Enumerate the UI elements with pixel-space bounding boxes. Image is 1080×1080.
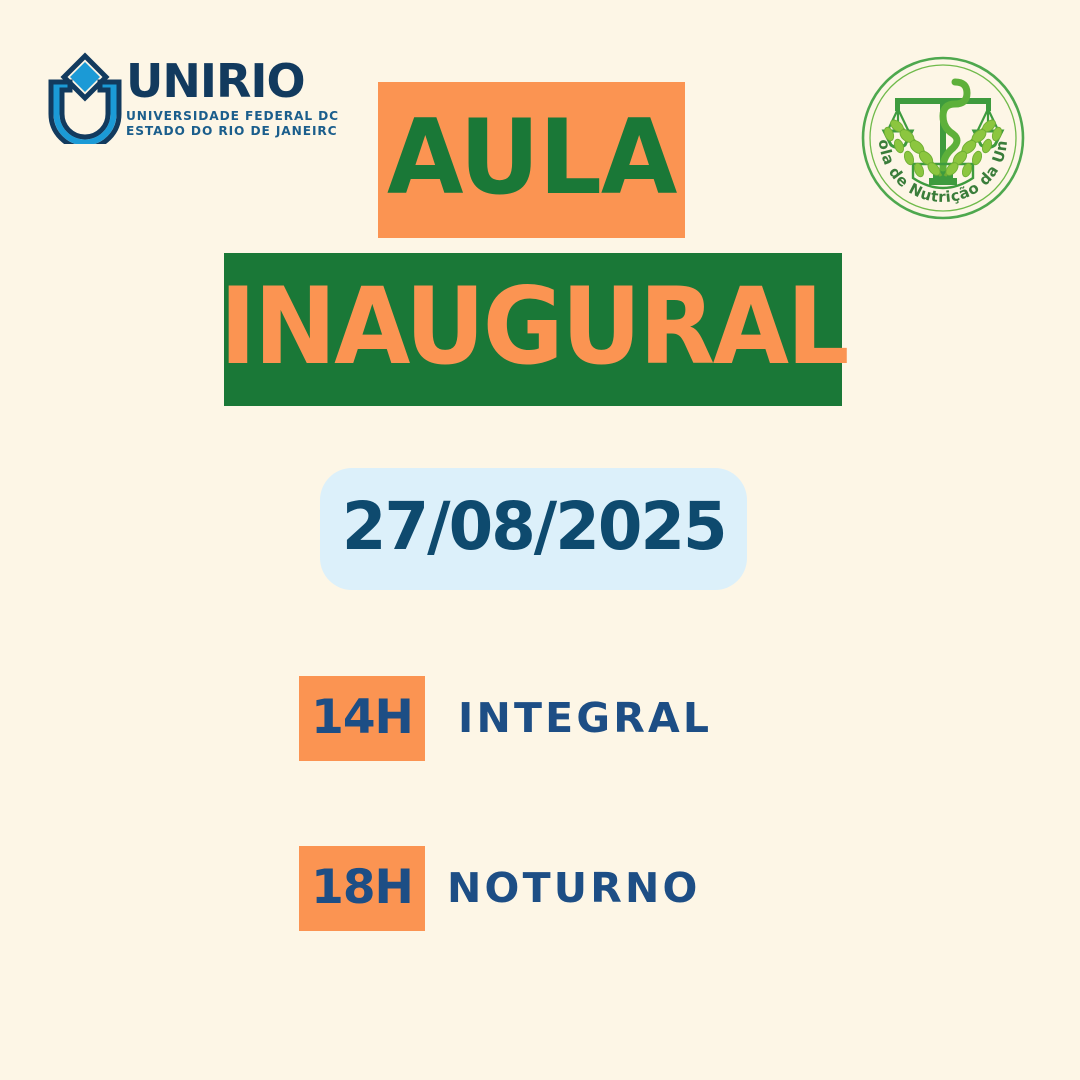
unirio-subtitle-line-2: ESTADO DO RIO DE JANEIRC (126, 124, 336, 139)
unirio-logo: UNIRIO UNIVERSIDADE FEDERAL DC ESTADO DO… (48, 52, 288, 157)
session-time-box: 18H (299, 846, 425, 931)
inaugural-title-text: INAUGURAL (219, 274, 847, 385)
session-shift-label: NOTURNO (447, 868, 701, 909)
unirio-wordmark-text: UNIRIO (126, 58, 336, 104)
session-time-box: 14H (299, 676, 425, 761)
unirio-wordmark: UNIRIO UNIVERSIDADE FEDERAL DC ESTADO DO… (126, 58, 336, 138)
aula-title-block: AULA (378, 82, 685, 238)
session-time-text: 14H (311, 694, 413, 744)
session-shift-label: INTEGRAL (458, 698, 712, 739)
escola-de-nutricao-seal-icon: Escola de Nutrição da Unirio (857, 52, 1029, 224)
aula-title-text: AULA (387, 107, 676, 214)
unirio-subtitle-line-1: UNIVERSIDADE FEDERAL DC (126, 109, 336, 124)
inaugural-title-block: INAUGURAL (224, 253, 842, 406)
session-time-text: 18H (311, 864, 413, 914)
date-badge: 27/08/2025 (320, 468, 747, 590)
session-row: 14H INTEGRAL (299, 676, 712, 761)
unirio-u-diamond-mark-icon (48, 52, 122, 144)
date-text: 27/08/2025 (342, 494, 726, 564)
session-row: 18H NOTURNO (299, 846, 701, 931)
poster-canvas: UNIRIO UNIVERSIDADE FEDERAL DC ESTADO DO… (0, 0, 1080, 1080)
